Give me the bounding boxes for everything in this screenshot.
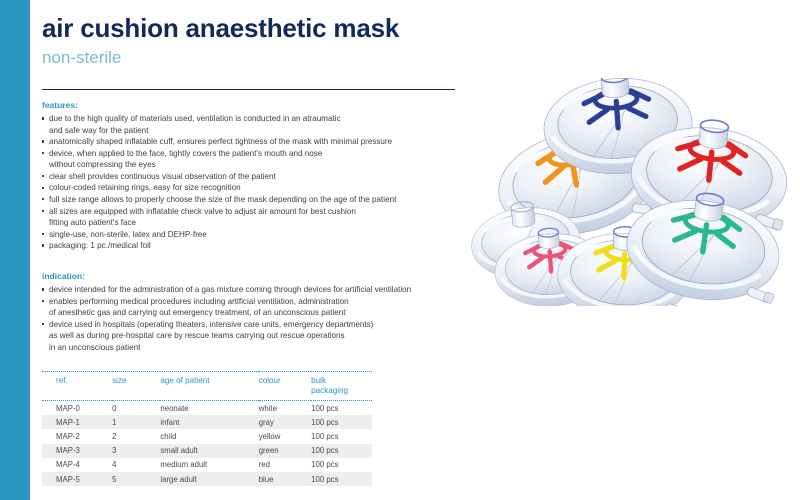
list-item: due to the high quality of materials use… [42,113,462,136]
left-accent-bar [0,0,30,500]
cell-bulk: 100 pcs [311,429,372,443]
cell-age: medium adult [160,458,258,472]
cell-age: small adult [160,444,258,458]
column-header-ref: ref. [42,372,112,401]
product-photo-svg [466,78,800,306]
cell-bulk: 100 pcs [311,415,372,429]
features-list: due to the high quality of materials use… [42,113,462,252]
cell-age: infant [160,415,258,429]
table-header-row: ref. size age of patient colour bulk pac… [42,372,372,401]
cell-age: large adult [160,472,258,486]
list-item: device, when applied to the face, tightl… [42,148,462,171]
cell-ref: MAP-1 [42,415,112,429]
indication-heading: indication: [42,271,472,281]
list-item: all sizes are equipped with inflatable c… [42,206,462,229]
features-heading: features: [42,100,462,110]
cell-ref: MAP-4 [42,458,112,472]
list-item: full size range allows to properly choos… [42,194,462,206]
cell-size: 5 [112,472,160,486]
column-header-colour: colour [259,372,311,401]
list-item: anatomically shaped inflatable cuff, ens… [42,136,462,148]
table-header: ref. size age of patient colour bulk pac… [42,372,372,401]
cell-bulk: 100 pcs [311,444,372,458]
features-section: features: due to the high quality of mat… [42,100,462,252]
table-body: MAP-0 0 neonate white 100 pcs MAP-1 1 in… [42,401,372,487]
cell-ref: MAP-3 [42,444,112,458]
table-row: MAP-5 5 large adult blue 100 pcs [42,472,372,486]
cell-colour: blue [259,472,311,486]
cell-bulk: 100 pcs [311,401,372,416]
page-subtitle: non-sterile [42,49,462,68]
table-row: MAP-2 2 child yellow 100 pcs [42,429,372,443]
product-datasheet-page: air cushion anaesthetic mask non-sterile… [0,0,800,500]
column-header-size: size [112,372,160,401]
cell-size: 1 [112,415,160,429]
cell-bulk: 100 pcs [311,472,372,486]
list-item: colour-coded retaining rings, easy for s… [42,182,462,194]
table-row: MAP-3 3 small adult green 100 pcs [42,444,372,458]
table-row: MAP-4 4 medium adult red 100 pcs [42,458,372,472]
cell-ref: MAP-5 [42,472,112,486]
cell-colour: gray [259,415,311,429]
column-header-age: age of patient [160,372,258,401]
list-item: device used in hospitals (operating thea… [42,319,472,354]
title-divider [42,89,455,90]
cell-size: 4 [112,458,160,472]
cell-colour: white [259,401,311,416]
cell-bulk: 100 pcs [311,458,372,472]
table-row: MAP-1 1 infant gray 100 pcs [42,415,372,429]
cell-ref: MAP-0 [42,401,112,416]
cell-age: neonate [160,401,258,416]
product-photo [466,78,800,306]
list-item: single-use, non-sterile, latex and DEHP-… [42,229,462,241]
cell-colour: yellow [259,429,311,443]
cell-colour: red [259,458,311,472]
cell-ref: MAP-2 [42,429,112,443]
list-item: clear shell provides continuous visual o… [42,171,462,183]
indication-list: device intended for the administration o… [42,284,472,353]
page-header: air cushion anaesthetic mask non-sterile [42,14,462,67]
list-item: packaging: 1 pc./medical foil [42,240,462,252]
table-row: MAP-0 0 neonate white 100 pcs [42,401,372,416]
cell-size: 2 [112,429,160,443]
list-item: device intended for the administration o… [42,284,477,296]
cell-colour: green [259,444,311,458]
cell-size: 3 [112,444,160,458]
cell-age: child [160,429,258,443]
cell-size: 0 [112,401,160,416]
list-item: enables performing medical procedures in… [42,296,472,319]
page-title: air cushion anaesthetic mask [42,14,462,43]
indication-section: indication: device intended for the admi… [42,271,472,353]
specification-table: ref. size age of patient colour bulk pac… [42,371,372,486]
column-header-bulk: bulk packaging [311,372,372,401]
